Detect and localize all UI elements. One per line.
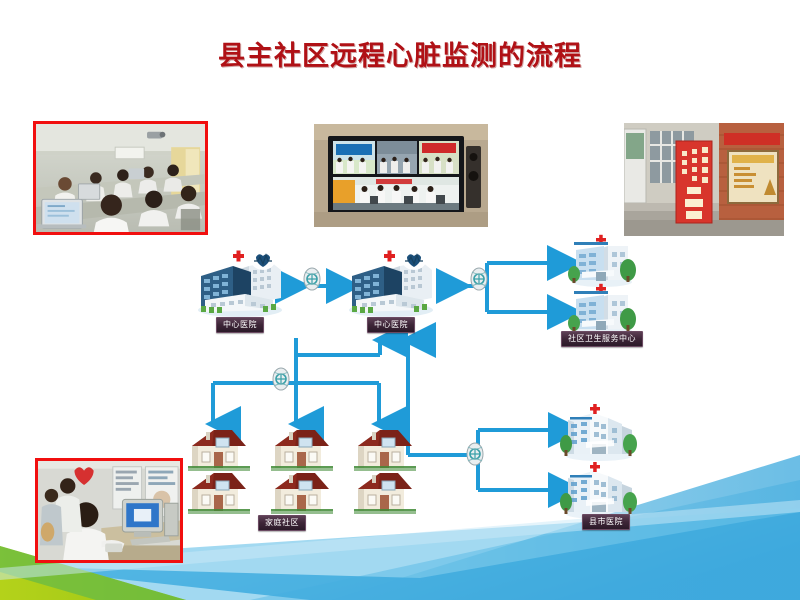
home-house[interactable]	[188, 424, 250, 472]
home-community-label: 家庭社区	[258, 515, 306, 531]
county-hospital-lower[interactable]	[560, 462, 638, 520]
home-house[interactable]	[271, 467, 333, 515]
network-globe-icon	[270, 366, 292, 397]
red-cross-icon	[233, 251, 244, 262]
home-house[interactable]	[271, 424, 333, 472]
heart-ecg-icon	[401, 246, 427, 270]
county-city-hospital-label: 县市医院	[582, 514, 630, 530]
county-hospital-upper[interactable]	[560, 404, 638, 462]
red-cross-icon	[384, 251, 395, 262]
home-house[interactable]	[188, 467, 250, 515]
network-globe-icon	[464, 441, 486, 472]
center-hospital-left-label: 中心医院	[216, 317, 264, 333]
network-globe-icon	[468, 266, 490, 297]
center-hospital-right-label: 中心医院	[367, 317, 415, 333]
network-globe-icon	[301, 266, 323, 297]
community-health-center-label: 社区卫生服务中心	[561, 331, 643, 347]
home-house[interactable]	[354, 467, 416, 515]
heart-ecg-icon	[250, 246, 276, 270]
home-house[interactable]	[354, 424, 416, 472]
slide-canvas: 县主社区远程心脏监测的流程	[0, 0, 800, 600]
community-clinic-upper[interactable]	[566, 232, 638, 288]
community-clinic-lower[interactable]	[566, 281, 638, 337]
center-hospital-left[interactable]	[193, 246, 288, 318]
center-hospital-right[interactable]	[344, 246, 439, 318]
